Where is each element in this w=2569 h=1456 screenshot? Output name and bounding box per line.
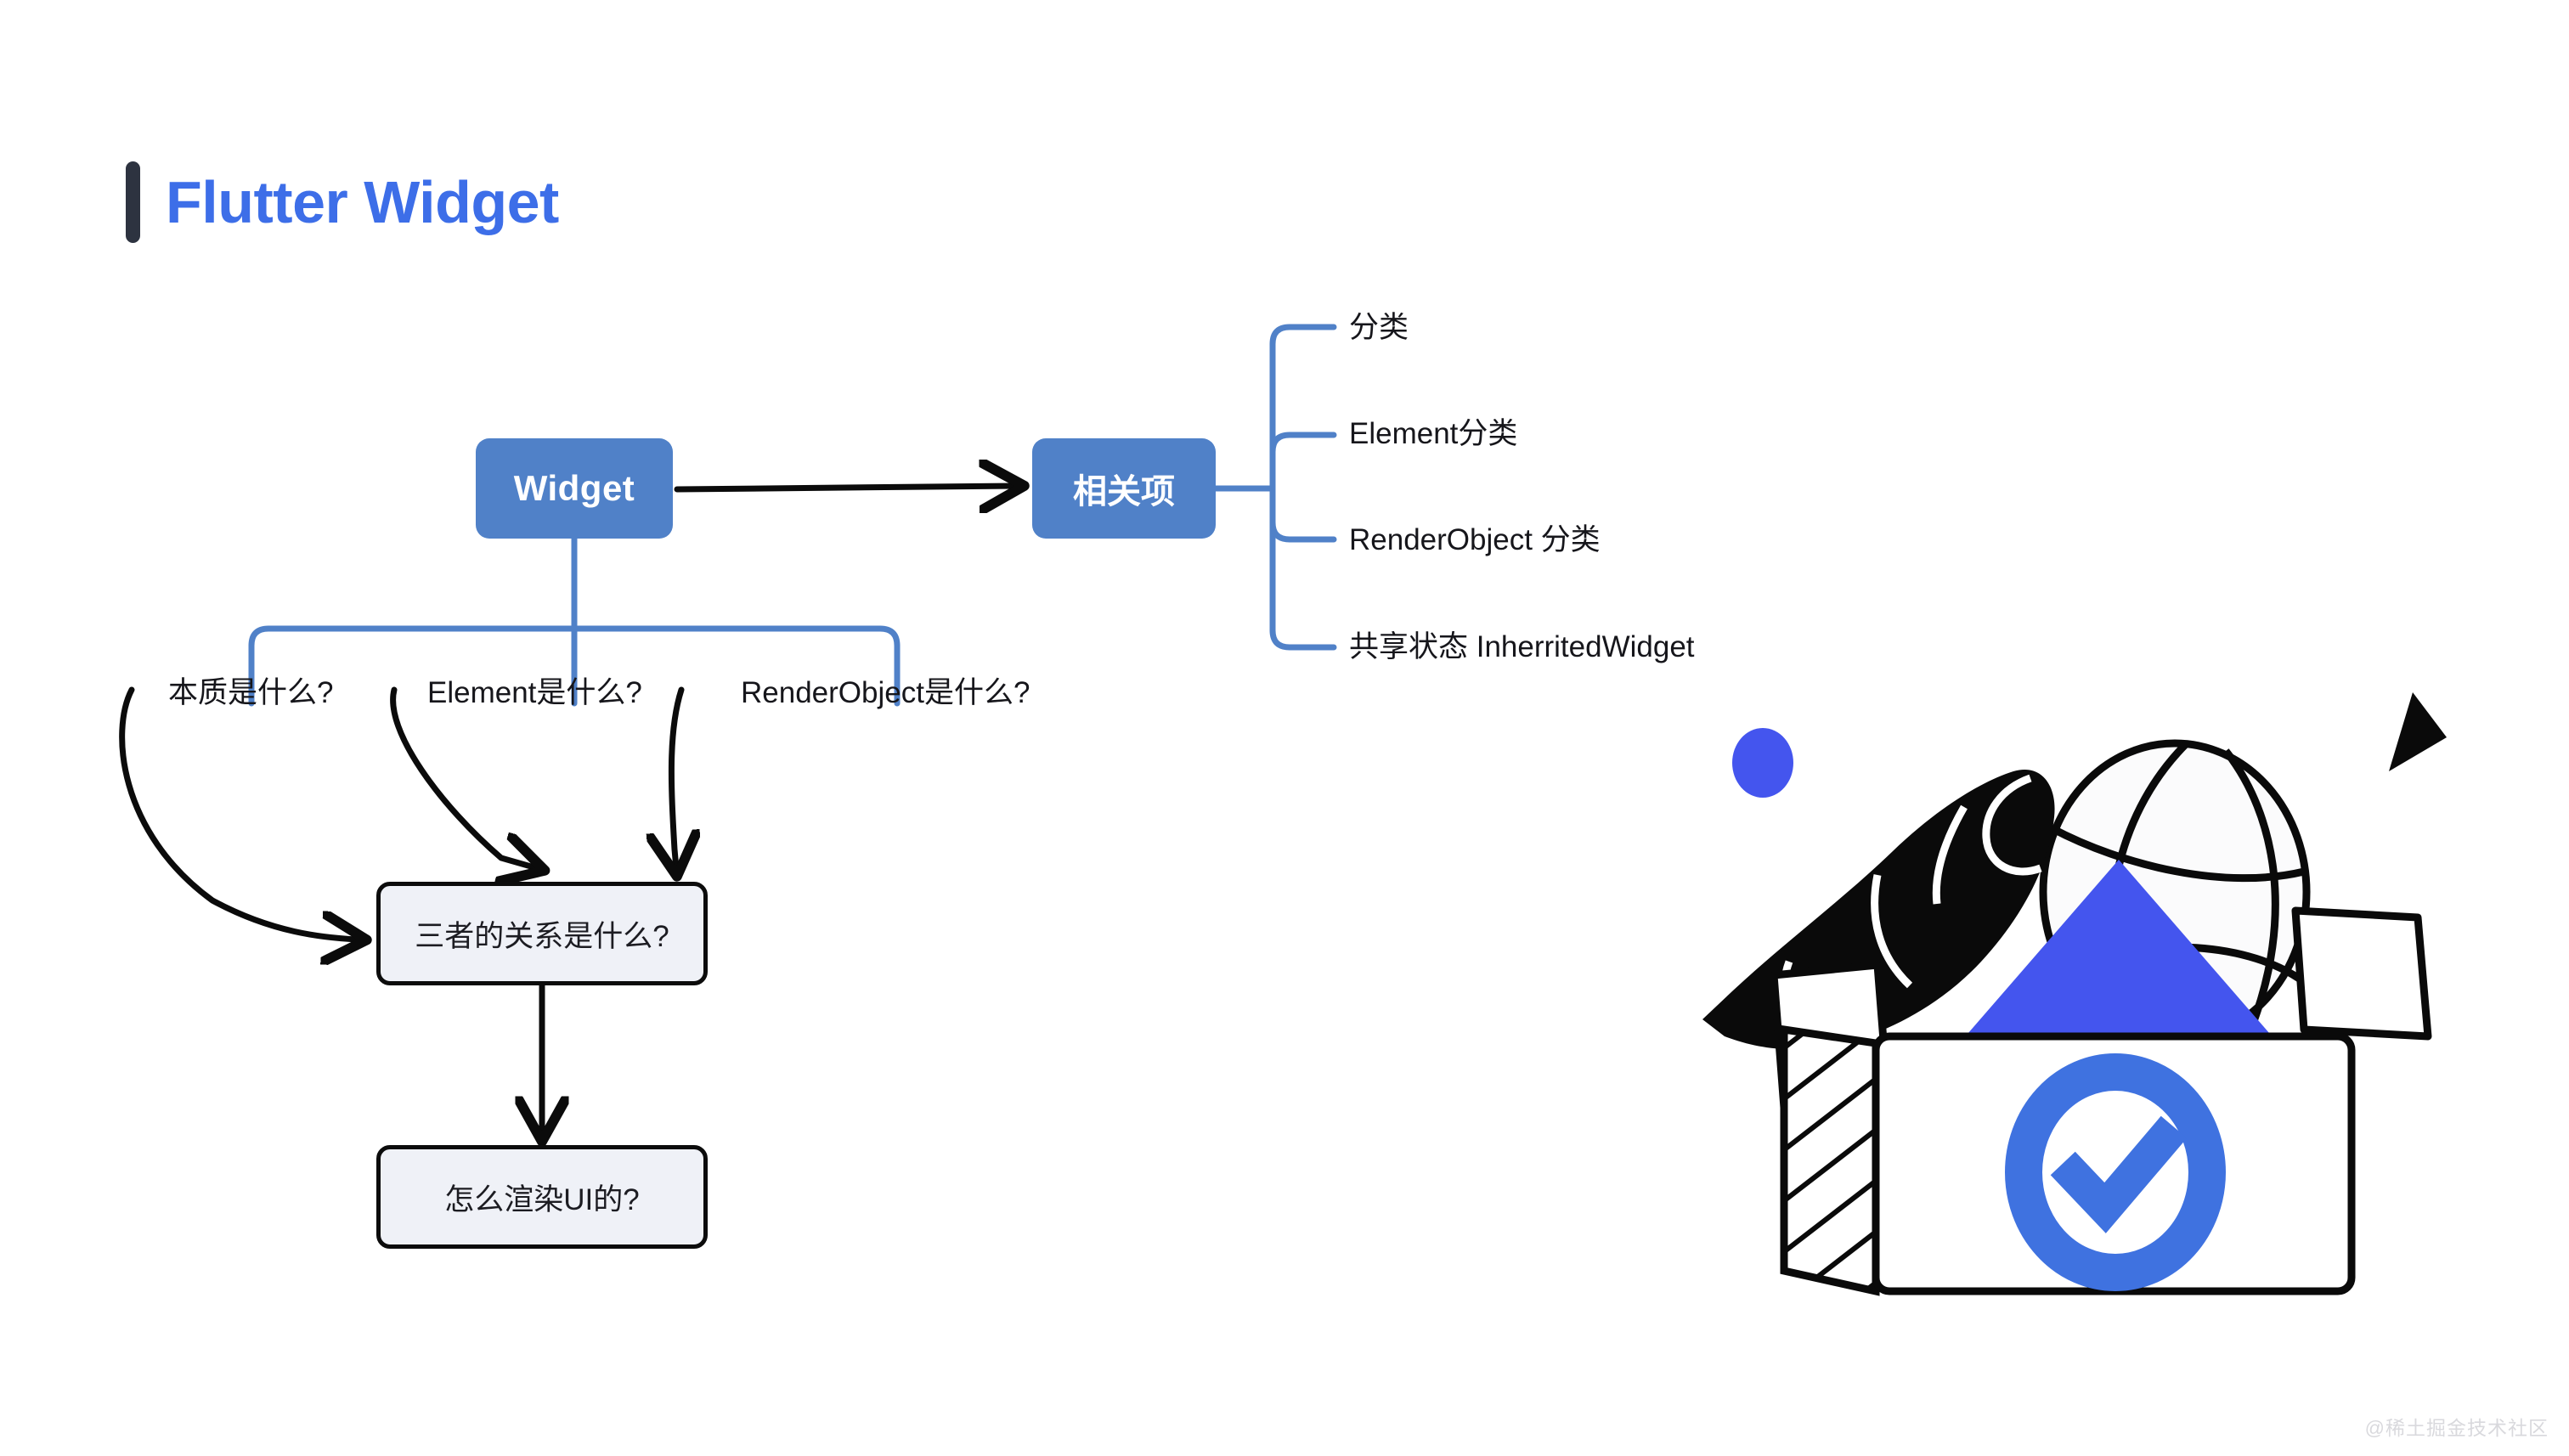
illustration-open-box-with-checkmark: [1665, 663, 2481, 1308]
branch-label-categories: 分类: [1349, 313, 1409, 342]
page-title: Flutter Widget: [166, 172, 559, 232]
slide-canvas: Flutter Widget: [0, 0, 2569, 1456]
page-title-block: Flutter Widget: [126, 161, 559, 243]
node-widget[interactable]: Widget: [476, 438, 673, 539]
branch-label-element-categories: Element分类: [1349, 419, 1517, 449]
box-flap-right: [2295, 911, 2428, 1036]
watermark: @稀土掘金技术社区: [2365, 1412, 2549, 1441]
title-accent-bar: [126, 161, 140, 243]
node-related-items[interactable]: 相关项: [1032, 438, 1216, 539]
black-triangle-icon: [2389, 692, 2447, 771]
label-question-essence: 本质是什么?: [168, 678, 333, 708]
label-question-element: Element是什么?: [427, 678, 642, 708]
label-question-renderobject: RenderObject是什么?: [741, 678, 1030, 708]
box-render-question[interactable]: 怎么渲染UI的?: [376, 1145, 708, 1249]
branch-label-inherited-widget: 共享状态 InherritedWidget: [1349, 632, 1695, 662]
box-relation-question[interactable]: 三者的关系是什么?: [376, 882, 708, 985]
branch-label-renderobject-categories: RenderObject 分类: [1349, 525, 1601, 555]
blue-dot-icon: [1732, 728, 1793, 798]
